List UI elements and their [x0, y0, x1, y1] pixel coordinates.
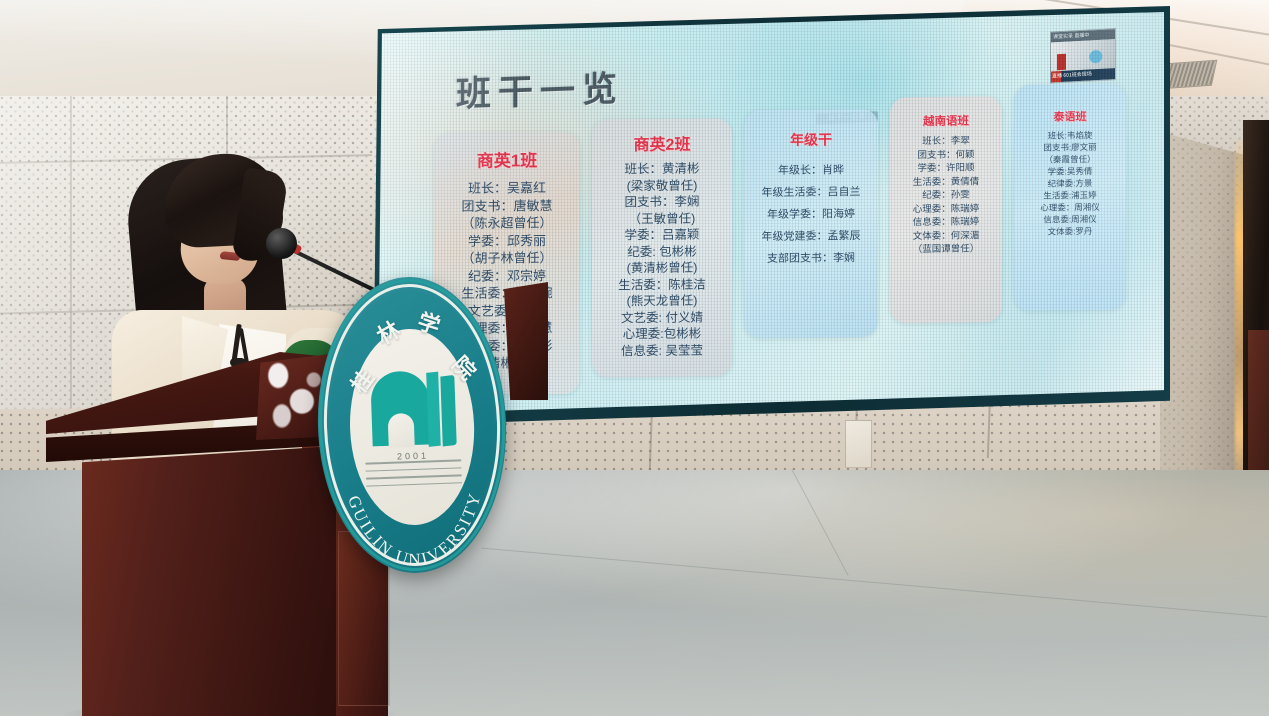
podium-front — [82, 446, 336, 716]
microphone-icon — [266, 228, 297, 259]
university-emblem: 2001 桂 林 学 院 GUILIN UNIVERSITY — [313, 274, 511, 576]
emblem-english-name: GUILIN UNIVERSITY — [313, 274, 511, 576]
svg-text:GUILIN UNIVERSITY: GUILIN UNIVERSITY — [344, 489, 488, 572]
background-object — [504, 282, 548, 400]
auditorium-scene: 班干一览 班干一览表 商英1班 班长：吴嘉红 团支书：唐敏慧 （陈永超曾任） 学… — [0, 0, 1269, 716]
wall-access-panel — [845, 420, 872, 468]
